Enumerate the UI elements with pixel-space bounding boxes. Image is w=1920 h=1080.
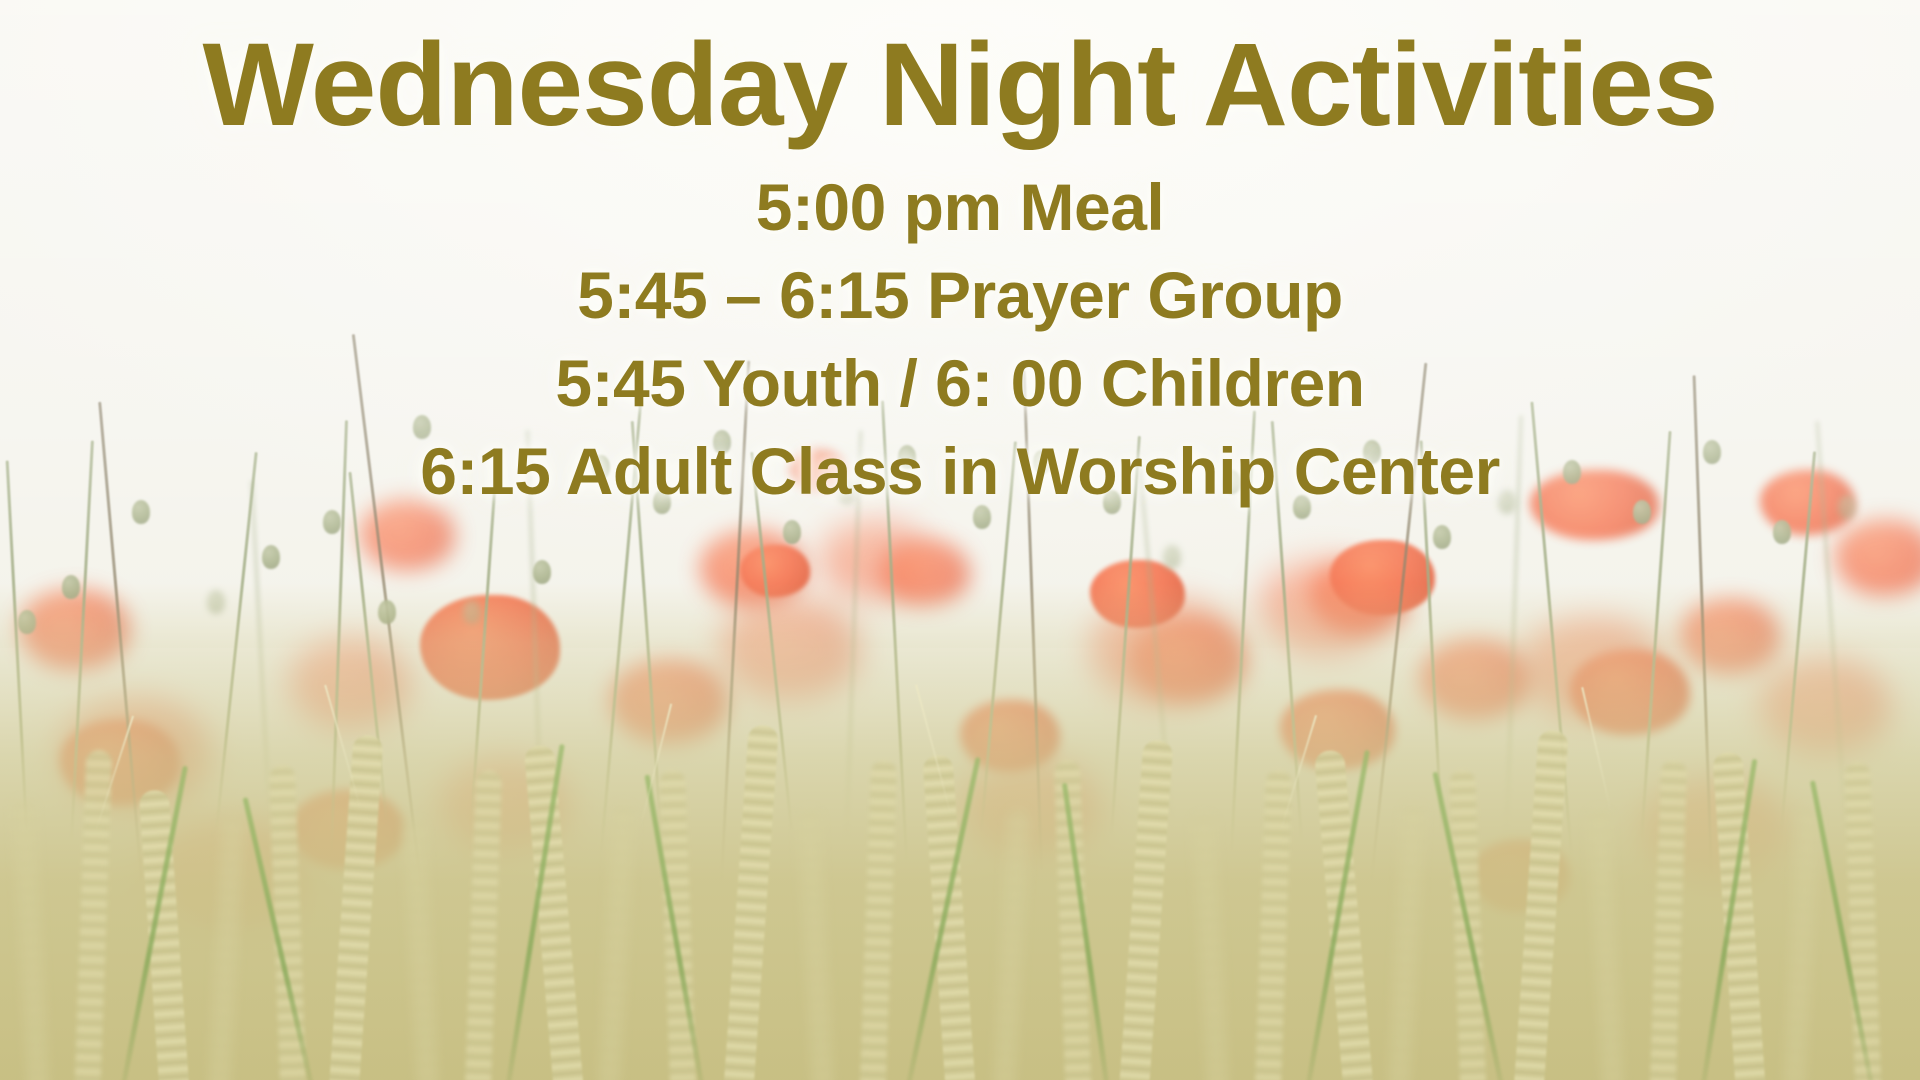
schedule-item-meal: 5:00 pm Meal <box>756 171 1165 245</box>
schedule-item-adult-class: 6:15 Adult Class in Worship Center <box>420 435 1500 509</box>
poster-text-layer: Wednesday Night Activities 5:00 pm Meal … <box>0 0 1920 1080</box>
schedule-list: 5:00 pm Meal 5:45 – 6:15 Prayer Group 5:… <box>420 171 1500 509</box>
schedule-item-prayer-group: 5:45 – 6:15 Prayer Group <box>577 259 1343 333</box>
poster-canvas: Wednesday Night Activities 5:00 pm Meal … <box>0 0 1920 1080</box>
page-title: Wednesday Night Activities <box>203 22 1718 149</box>
schedule-item-youth-children: 5:45 Youth / 6: 00 Children <box>555 347 1364 421</box>
